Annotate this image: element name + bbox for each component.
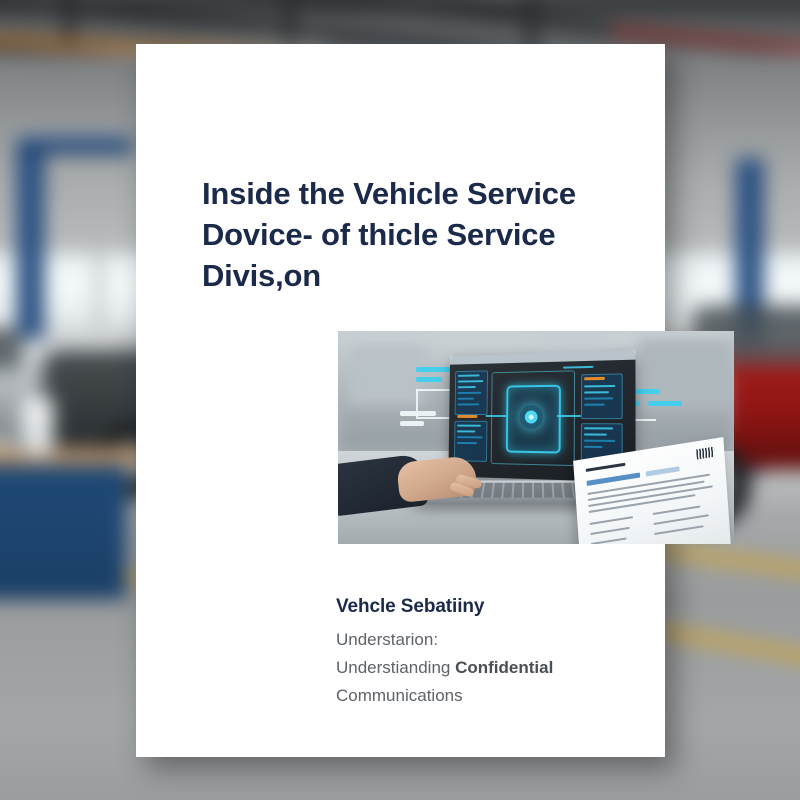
footer-line-2-emphasis: Confidential — [455, 658, 553, 677]
car-window — [0, 329, 22, 371]
footer-line-1: Understarion: — [336, 626, 676, 654]
document-text-line — [589, 516, 633, 524]
document-text-line — [591, 537, 627, 544]
window-mullion — [96, 253, 103, 329]
document-highlight — [587, 473, 641, 486]
footer-line-2-prefix: Understianding — [336, 658, 455, 677]
hud-callout-tag — [400, 411, 436, 416]
blue-workbench — [0, 463, 127, 599]
blue-lift-arm — [17, 138, 132, 155]
document-highlight — [646, 466, 680, 476]
page-title-line-2: Dovice- of thicle Service — [202, 214, 632, 255]
footer-line-2: Understianding Confidential — [336, 654, 676, 682]
page-title-line-1: Inside the Vehicle Service — [202, 173, 632, 214]
fluid-bottle — [22, 398, 53, 455]
footer-text-block: Vehcle Sebatiiny Understarion: Understia… — [336, 595, 676, 710]
document-text-line — [653, 506, 701, 515]
document-barcode — [696, 447, 714, 460]
hud-callout-tag — [648, 401, 682, 406]
hero-bg-panel — [638, 339, 734, 409]
hud-callout-tag — [400, 421, 424, 426]
hero-bg-panel — [348, 345, 426, 405]
document-header — [586, 463, 626, 472]
page-title: Inside the Vehicle Service Dovice- of th… — [202, 173, 632, 296]
footer-heading: Vehcle Sebatiiny — [336, 595, 676, 619]
page-title-line-3: Divis,on — [202, 255, 632, 296]
document-text-line — [590, 527, 630, 535]
cover-card: Inside the Vehicle Service Dovice- of th… — [136, 44, 665, 757]
screenshot-root: Inside the Vehicle Service Dovice- of th… — [0, 0, 800, 800]
hero-image — [338, 331, 734, 544]
document-text-line — [653, 514, 708, 524]
hud-callout-tag — [416, 377, 442, 382]
footer-line-3: Communications — [336, 682, 676, 710]
document-text-line — [654, 525, 703, 534]
